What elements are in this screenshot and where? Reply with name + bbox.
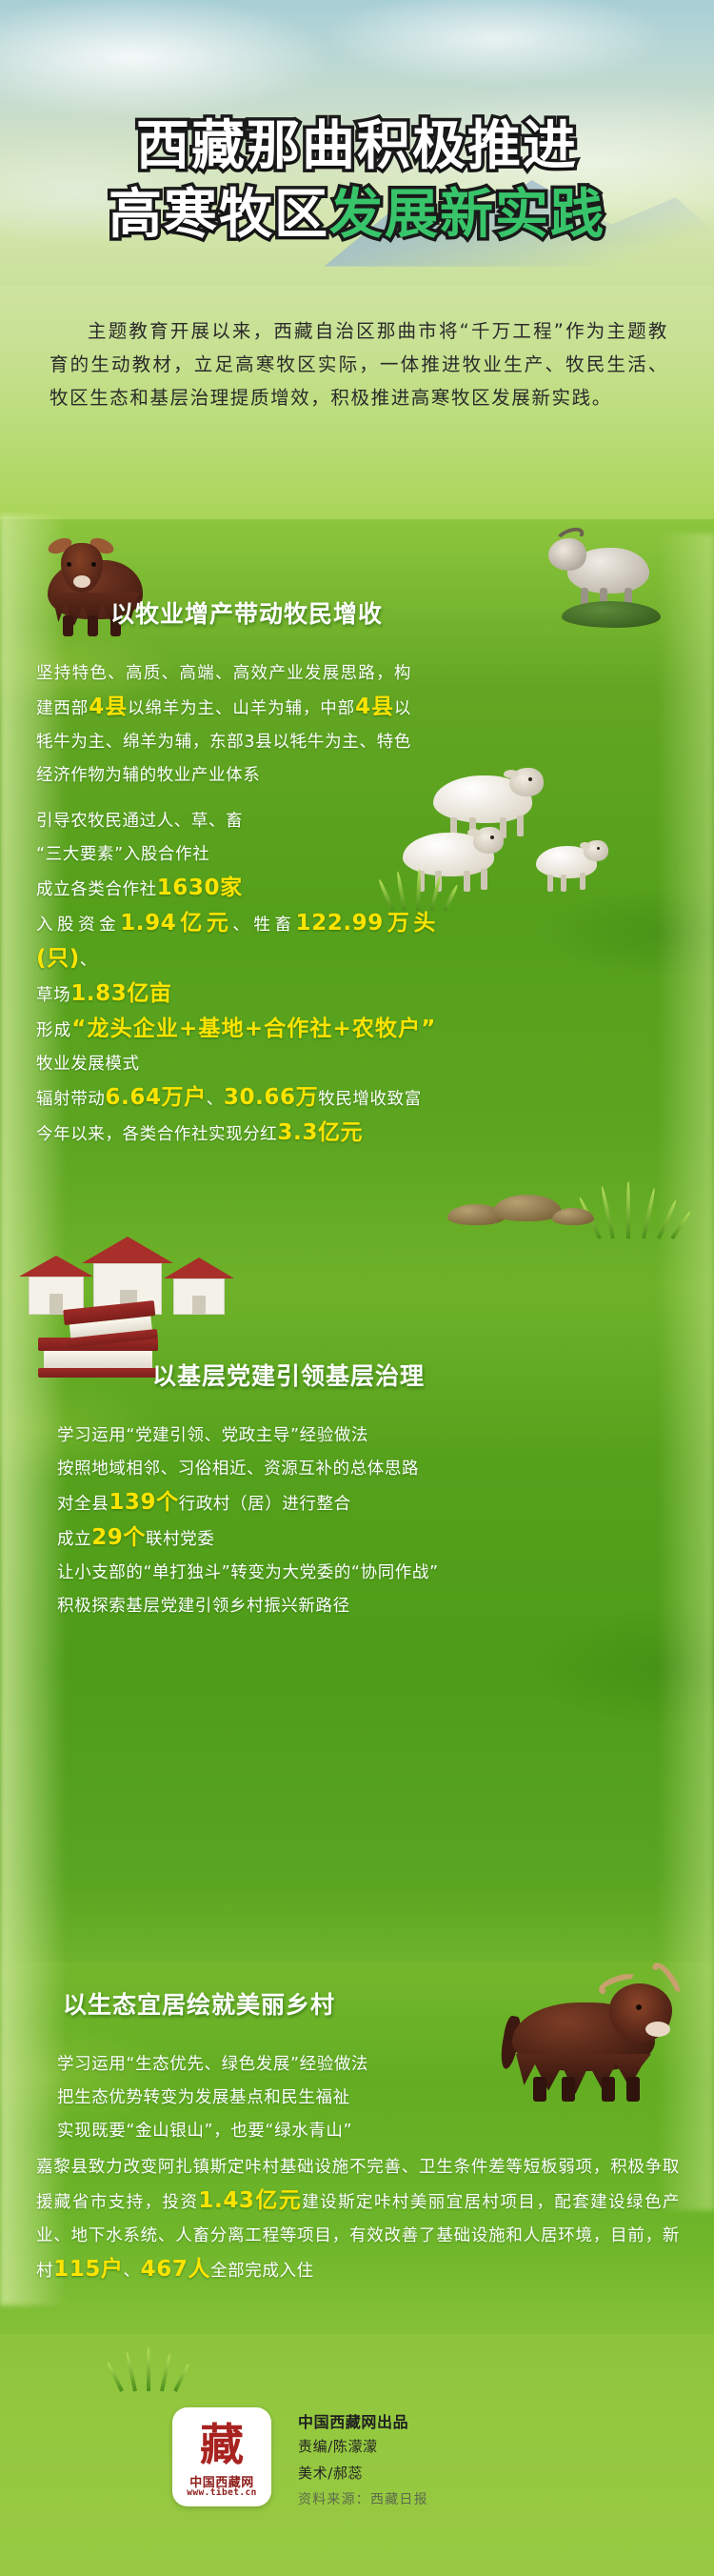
rock xyxy=(552,1208,594,1225)
highlight-value: 4县 xyxy=(355,694,394,719)
yak-muzzle xyxy=(645,2022,670,2037)
highlight-value: 6.64万户 xyxy=(105,1085,206,1110)
text-line: 形成“龙头企业+基地+合作社+农牧户”牧业发展模式 xyxy=(36,1013,436,1081)
body-text-run: 把生态优势转变为发展基点和民生福祉 xyxy=(57,2088,350,2107)
sheep-ear xyxy=(580,842,590,849)
body-text-run: 成立各类合作社 xyxy=(36,880,157,899)
body-text-run: 学习运用“生态优先、绿色发展”经验做法 xyxy=(57,2055,368,2074)
highlight-value: 1630家 xyxy=(157,875,243,900)
footer-editor: 责编/陈濛濛 xyxy=(298,2436,378,2456)
text-line: 实现既要“金山银山”，也要“绿水青山” xyxy=(57,2115,514,2148)
text-line: 坚持特色、高质、高端、高效产业发展思路，构建西部4县以绵羊为主、山羊为辅，中部4… xyxy=(36,657,411,793)
yak-eye-left xyxy=(67,562,71,567)
body-text-run: 、 xyxy=(124,2262,141,2281)
yak-leg xyxy=(602,2077,615,2102)
footer-art: 美术/郝蕊 xyxy=(298,2463,363,2483)
highlight-value: 115户 xyxy=(53,2257,123,2282)
highlight-value: 29个 xyxy=(91,1525,146,1550)
grass-tuft-footer xyxy=(114,2345,228,2391)
body-text-run: 积极探索基层党建引领乡村振兴新路径 xyxy=(57,1597,350,1616)
sheep-leg xyxy=(580,873,585,890)
tibet-logo-icon: 藏 xyxy=(188,2417,256,2472)
text-line: 入股资金1.94亿元、牲畜122.99万头(只)、 xyxy=(36,907,436,977)
section-3-body-top: 学习运用“生态优先、绿色发展”经验做法 把生态优势转变为发展基点和民生福祉 实现… xyxy=(57,2048,514,2148)
text-line: 把生态优势转变为发展基点和民生福祉 xyxy=(57,2082,514,2115)
highlight-value: “龙头企业+基地+合作社+农牧户” xyxy=(71,1016,436,1041)
body-text-run: “三大要素”入股合作社 xyxy=(36,845,209,864)
rock-cluster xyxy=(438,1191,647,1238)
yak-illustration-2 xyxy=(503,1962,698,2105)
body-text-run: 引导农牧民通过人、草、畜 xyxy=(36,812,243,831)
sheep-eye xyxy=(490,835,494,839)
body-text-run: 学习运用“党建引领、党政主导”经验做法 xyxy=(57,1426,368,1445)
body-text-run: 实现既要“金山银山”，也要“绿水青山” xyxy=(57,2122,352,2141)
text-line: 学习运用“生态优先、绿色发展”经验做法 xyxy=(57,2048,514,2082)
highlight-value: 139个 xyxy=(109,1490,178,1515)
sheep-eye xyxy=(597,847,600,850)
footer-producer: 中国西藏网出品 xyxy=(298,2409,408,2432)
body-text-run: 联村党委 xyxy=(146,1530,214,1549)
goat-head xyxy=(548,538,586,571)
yak-leg xyxy=(63,615,73,636)
highlight-value: 4县 xyxy=(89,694,128,719)
body-text-run: 形成 xyxy=(36,1021,71,1040)
body-text-run: 草场 xyxy=(36,986,70,1005)
section-1-heading: 以牧业增产带动牧民增收 xyxy=(110,595,383,630)
house-roof xyxy=(164,1258,234,1278)
page-title: 西藏那曲积极推进 高寒牧区发展新实践 xyxy=(0,112,714,250)
section-2-body: 学习运用“党建引领、党政主导”经验做法 按照地域相邻、习俗相近、资源互补的总体思… xyxy=(57,1419,533,1623)
body-text-run: 辐射带动 xyxy=(36,1090,105,1109)
text-line: 学习运用“党建引领、党政主导”经验做法 xyxy=(57,1419,533,1453)
yak-leg xyxy=(626,2077,640,2102)
highlight-value: 1.83亿亩 xyxy=(70,981,171,1006)
text-line: 按照地域相邻、习俗相近、资源互补的总体思路 xyxy=(57,1453,533,1486)
text-line: “三大要素”入股合作社 xyxy=(36,838,436,872)
sheep-leg xyxy=(547,875,553,892)
footer-source: 资料来源：西藏日报 xyxy=(298,2489,428,2508)
text-line: 引导农牧民通过人、草、畜 xyxy=(36,805,436,838)
sheep-leg xyxy=(517,815,524,836)
body-text-run: 成立 xyxy=(57,1530,91,1549)
body-text-run: 牧业发展模式 xyxy=(36,1055,140,1074)
sheep-ear xyxy=(467,829,481,836)
infographic-content: 西藏那曲积极推进 高寒牧区发展新实践 主题教育开展以来，西藏自治区那曲市将“千万… xyxy=(0,0,714,2576)
title-line-2-white-text: 高寒牧区 xyxy=(109,184,329,246)
text-line: 嘉黎县致力改变阿扎镇斯定咔村基础设施不完善、卫生条件差等短板弱项，积极争取援藏省… xyxy=(36,2151,680,2288)
body-text-run: 以绵羊为主、山羊为辅，中部 xyxy=(128,699,355,718)
section-2-heading: 以基层党建引领基层治理 xyxy=(152,1358,425,1392)
highlight-value: 467人 xyxy=(141,2257,210,2282)
highlight-value: 3.3亿元 xyxy=(277,1120,363,1145)
yak-eye xyxy=(636,2004,642,2010)
highlight-value: 30.66万 xyxy=(224,1085,318,1110)
text-line: 让小支部的“单打独斗”转变为大党委的“协同作战” xyxy=(57,1557,533,1590)
title-line-1-text: 西藏那曲积极推进 xyxy=(136,115,578,177)
yak-leg xyxy=(88,615,98,636)
text-line: 今年以来，各类合作社实现分红3.3亿元 xyxy=(36,1117,436,1152)
highlight-value: 1.94亿元 xyxy=(120,911,232,936)
yak-leg xyxy=(562,2077,575,2102)
title-line-1: 西藏那曲积极推进 xyxy=(0,112,714,181)
body-text-run: 行政村（居）进行整合 xyxy=(179,1495,351,1514)
logo-url[interactable]: www.tibet.cn xyxy=(172,2487,271,2498)
sheep-leg xyxy=(561,875,566,892)
text-line: 积极探索基层党建引领乡村振兴新路径 xyxy=(57,1590,533,1623)
yak-eye-right xyxy=(91,562,96,567)
body-text-run: 全部完成入住 xyxy=(210,2262,314,2281)
body-text-run: 对全县 xyxy=(57,1495,109,1514)
text-line: 辐射带动6.64万户、30.66万牧民增收致富 xyxy=(36,1081,436,1117)
text-line: 草场1.83亿亩 xyxy=(36,977,436,1013)
section-3-heading: 以生态宜居绘就美丽乡村 xyxy=(63,1986,335,2021)
book-pages xyxy=(44,1351,152,1370)
body-text-run: 牧民增收致富 xyxy=(318,1090,422,1109)
yak-leg xyxy=(533,2077,546,2102)
highlight-value: 1.43亿元 xyxy=(198,2188,302,2213)
goat-illustration xyxy=(543,529,685,634)
body-text-run: 、 xyxy=(207,1090,224,1109)
body-text-run: 按照地域相邻、习俗相近、资源互补的总体思路 xyxy=(57,1459,419,1479)
section-1-rest: 引导农牧民通过人、草、畜 “三大要素”入股合作社 成立各类合作社1630家 入股… xyxy=(36,805,436,1152)
body-text-run: 今年以来，各类合作社实现分红 xyxy=(36,1125,277,1144)
section-1-line-0: 坚持特色、高质、高端、高效产业发展思路，构建西部4县以绵羊为主、山羊为辅，中部4… xyxy=(36,657,411,793)
sheep-ear xyxy=(504,770,519,778)
house-roof xyxy=(82,1237,173,1263)
text-line: 成立各类合作社1630家 xyxy=(36,872,436,907)
body-text-run: 、 xyxy=(80,951,97,970)
body-text-run: 入股资金 xyxy=(36,916,120,935)
sheep-lamb xyxy=(530,836,612,894)
rock-base xyxy=(562,601,661,628)
sheep-eye xyxy=(528,777,532,781)
text-line: 成立29个联村党委 xyxy=(57,1521,533,1557)
book-cover xyxy=(38,1368,158,1378)
title-line-2: 高寒牧区发展新实践 xyxy=(0,181,714,250)
sheep-leg xyxy=(481,869,487,890)
body-text-run: 、牲畜 xyxy=(232,916,295,935)
logo-card[interactable]: 藏 中国西藏网 www.tibet.cn xyxy=(172,2407,271,2506)
body-text-run: 让小支部的“单打独斗”转变为大党委的“协同作战” xyxy=(57,1563,439,1582)
intro-paragraph: 主题教育开展以来，西藏自治区那曲市将“千万工程”作为主题教育的生动教材，立足高寒… xyxy=(50,314,668,414)
yak-muzzle xyxy=(73,575,90,588)
title-line-2-green-text: 发展新实践 xyxy=(329,184,605,246)
text-line: 对全县139个行政村（居）进行整合 xyxy=(57,1486,533,1521)
section-3-body-main: 嘉黎县致力改变阿扎镇斯定咔村基础设施不完善、卫生条件差等短板弱项，积极争取援藏省… xyxy=(36,2151,680,2288)
